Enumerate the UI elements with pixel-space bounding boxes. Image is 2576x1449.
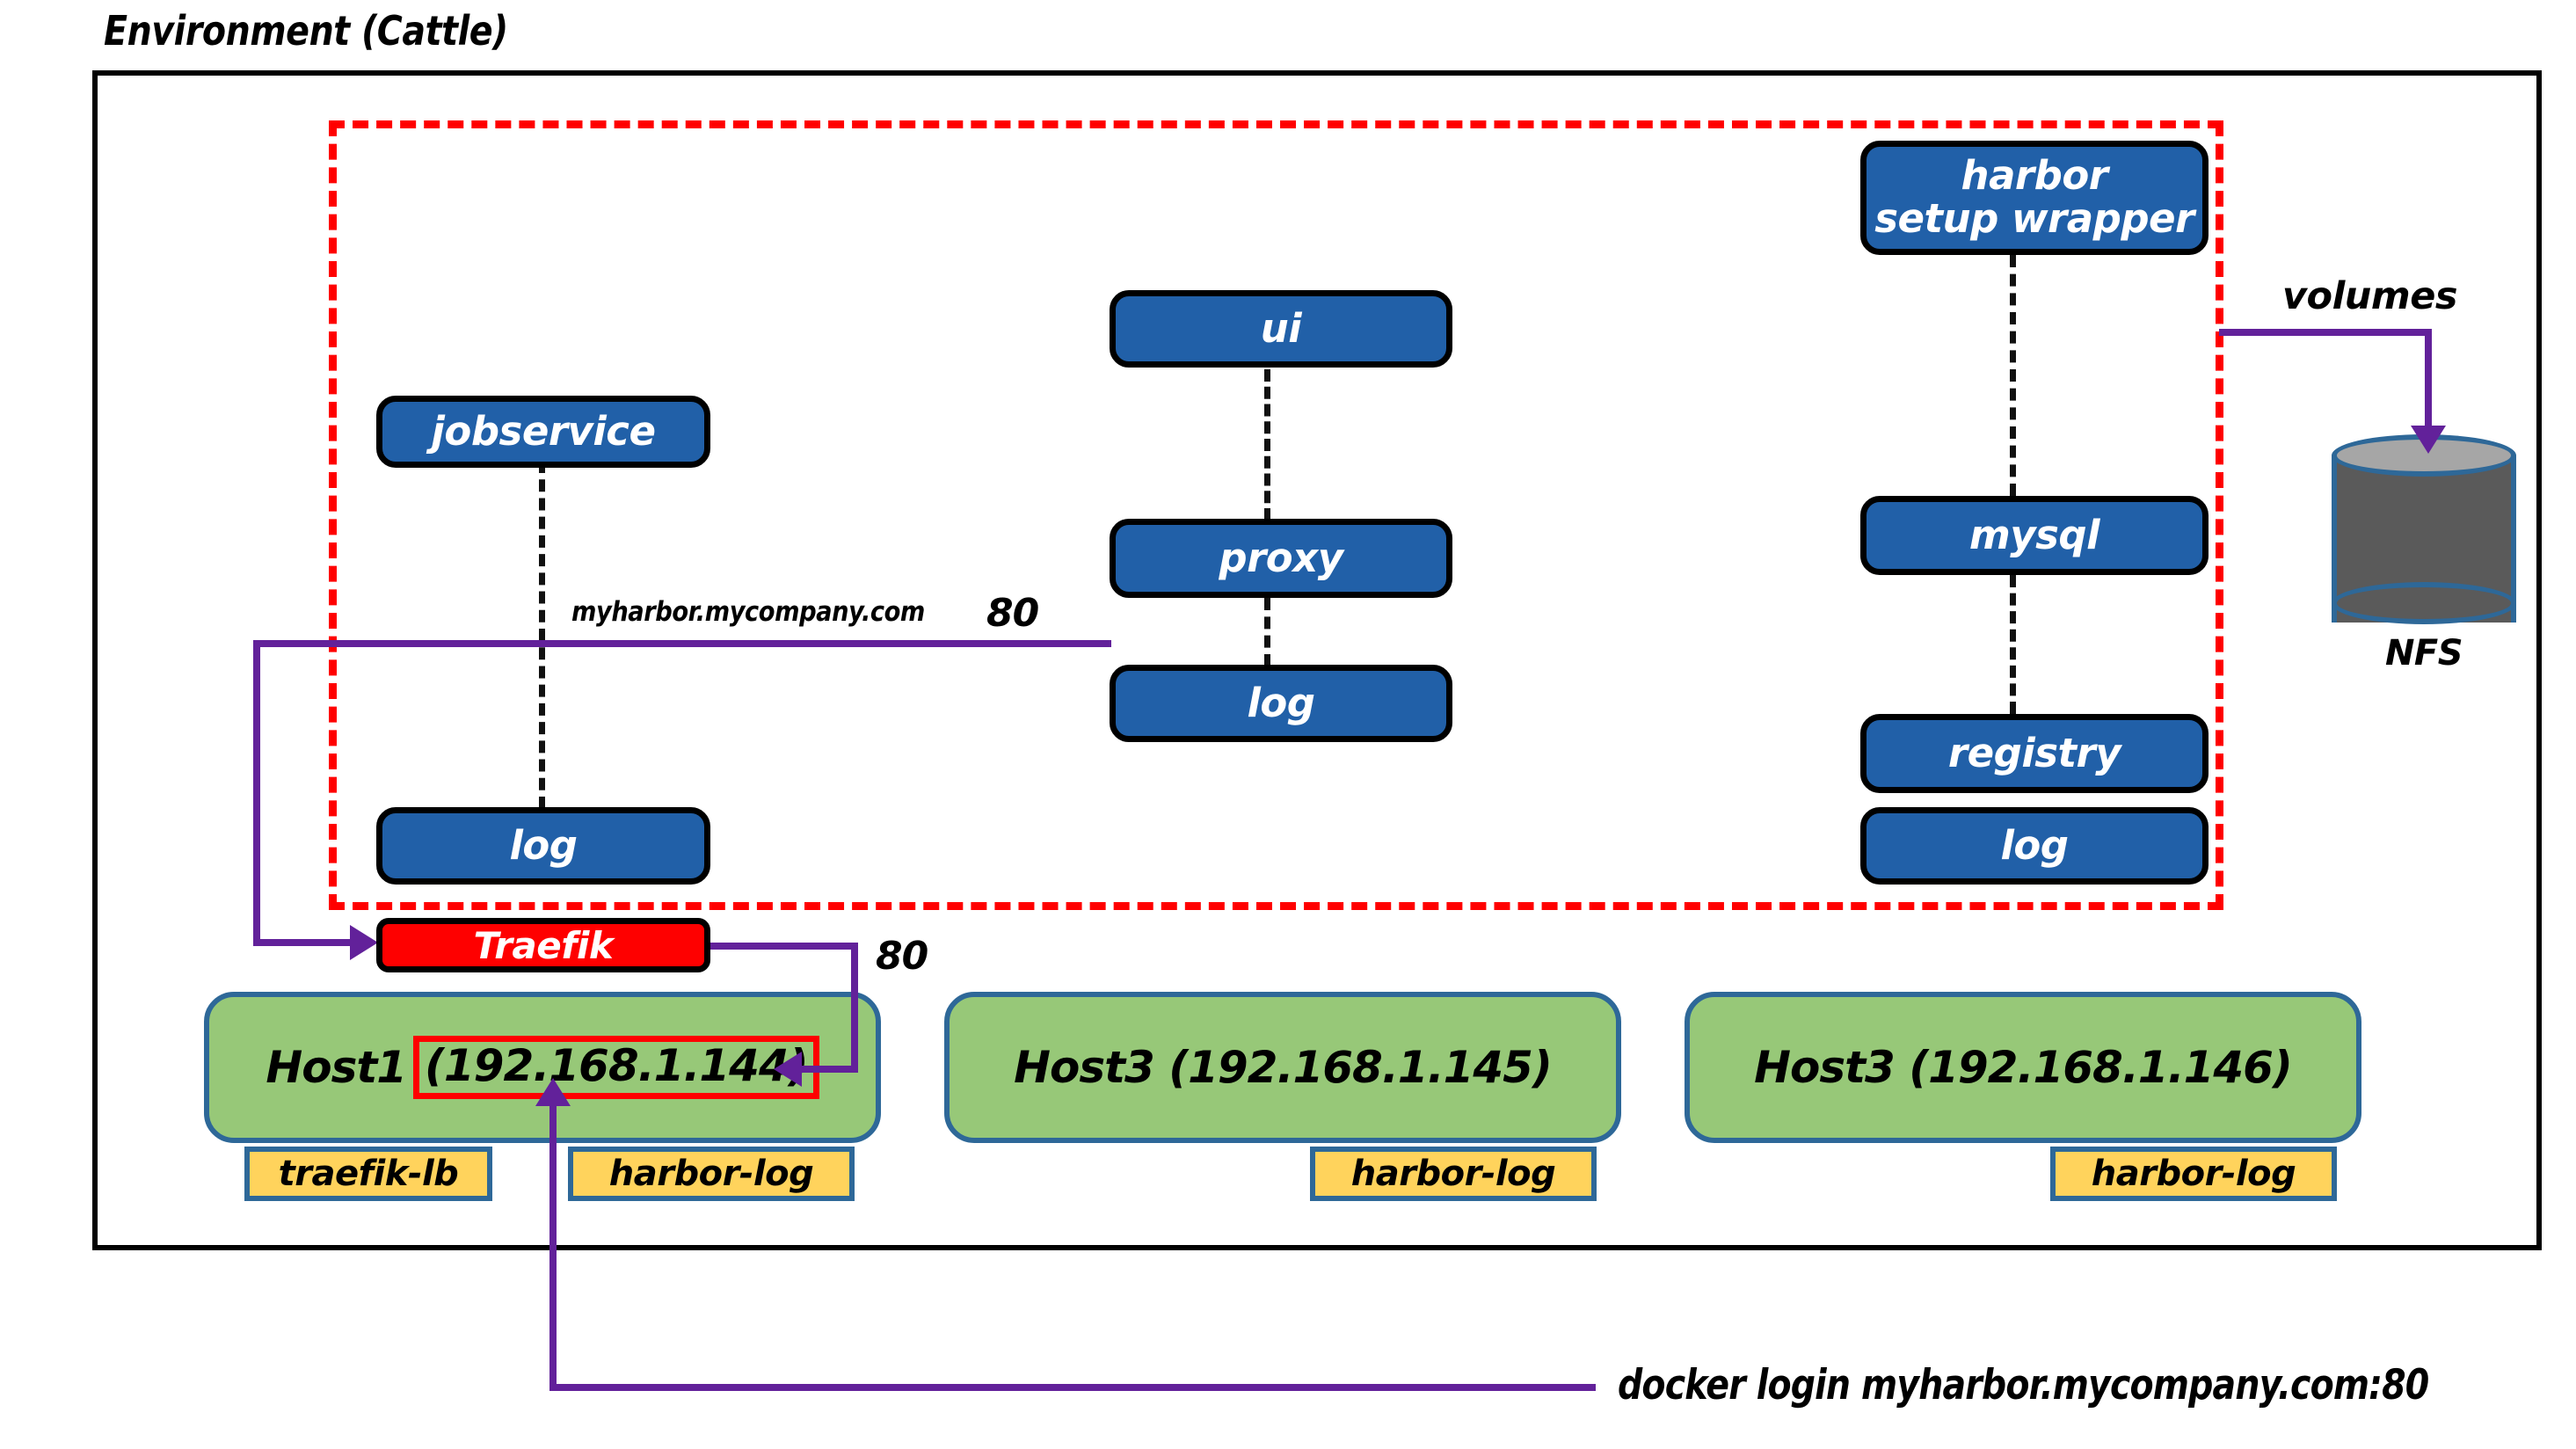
- service-label-ui: ui: [1261, 308, 1301, 351]
- connector-proxy-log: [1264, 598, 1270, 666]
- host-1-chip-traefik-lb-label: traefik-lb: [279, 1154, 459, 1194]
- service-label-log-left: log: [509, 825, 577, 868]
- volumes-route-vertical: [2425, 329, 2432, 431]
- volumes-route-arrowhead: [2411, 426, 2446, 454]
- nfs-cylinder-bottom: [2332, 582, 2516, 624]
- service-box-proxy[interactable]: proxy: [1110, 519, 1452, 598]
- traefik-route-arrowhead: [774, 1052, 802, 1087]
- proxy-route-horizontal-bottom: [253, 939, 357, 946]
- service-label-log-right: log: [2000, 825, 2068, 868]
- docker-login-command: docker login myharbor.mycompany.com:80: [1618, 1361, 2428, 1409]
- traefik-port-annotation: 80: [876, 934, 928, 979]
- connector-ui-proxy: [1264, 369, 1270, 521]
- host-3-chip-harbor-log-label: harbor-log: [2092, 1154, 2296, 1194]
- proxy-route-vertical: [253, 640, 260, 944]
- service-label-proxy: proxy: [1219, 537, 1343, 580]
- connector-jobservice-log: [539, 461, 545, 809]
- diagram-canvas: Environment (Cattle) jobservice log ui p…: [0, 0, 2576, 1449]
- proxy-port-annotation: 80: [986, 591, 1038, 636]
- docker-login-route-horizontal: [549, 1384, 1596, 1391]
- host-1-chip-harbor-log[interactable]: harbor-log: [568, 1147, 855, 1201]
- host-2-label: Host3 (192.168.1.145): [1014, 1042, 1552, 1093]
- service-box-jobservice[interactable]: jobservice: [376, 396, 710, 468]
- host-box-3[interactable]: Host3 (192.168.1.146): [1685, 992, 2361, 1143]
- connector-mysql-registry: [2010, 575, 2016, 714]
- service-box-log-middle[interactable]: log: [1110, 665, 1452, 742]
- service-label-harbor-wrapper-line1: harbor: [1961, 155, 2108, 198]
- traefik-route-horizontal-top: [709, 943, 858, 950]
- nfs-caption: NFS: [2332, 633, 2516, 674]
- service-box-ui[interactable]: ui: [1110, 290, 1452, 368]
- host-1-name: Host1: [266, 1042, 406, 1093]
- service-box-harbor-setup-wrapper[interactable]: harbor setup wrapper: [1860, 141, 2209, 255]
- host-1-ip-highlight: (192.168.1.144): [413, 1036, 819, 1099]
- proxy-route-horizontal-top: [253, 640, 1111, 647]
- host-2-chip-harbor-log[interactable]: harbor-log: [1310, 1147, 1597, 1201]
- host-1-chip-traefik-lb[interactable]: traefik-lb: [244, 1147, 492, 1201]
- docker-login-route-vertical: [549, 1104, 557, 1387]
- service-box-log-right[interactable]: log: [1860, 807, 2209, 885]
- connector-wrapper-mysql: [2010, 255, 2016, 496]
- environment-title: Environment (Cattle): [104, 7, 508, 55]
- volumes-route-horizontal: [2219, 329, 2432, 336]
- traefik-route-horizontal-bottom: [798, 1066, 858, 1073]
- host-2-chip-harbor-log-label: harbor-log: [1351, 1154, 1555, 1194]
- nfs-cylinder: NFS: [2332, 434, 2516, 681]
- service-label-registry: registry: [1948, 732, 2121, 775]
- docker-login-route-arrowhead: [535, 1078, 571, 1106]
- hostname-annotation: myharbor.mycompany.com: [571, 596, 925, 628]
- proxy-route-arrowhead: [350, 925, 378, 960]
- service-label-harbor-wrapper-line2: setup wrapper: [1874, 198, 2194, 241]
- traefik-label: Traefik: [474, 924, 614, 967]
- service-box-log-left[interactable]: log: [376, 807, 710, 885]
- host-3-label: Host3 (192.168.1.146): [1754, 1042, 2292, 1093]
- service-label-mysql: mysql: [1969, 514, 2099, 557]
- host-1-chip-harbor-log-label: harbor-log: [609, 1154, 813, 1194]
- service-label-jobservice: jobservice: [431, 411, 655, 454]
- service-box-registry[interactable]: registry: [1860, 714, 2209, 793]
- traefik-load-balancer[interactable]: Traefik: [376, 918, 710, 972]
- host-3-chip-harbor-log[interactable]: harbor-log: [2050, 1147, 2337, 1201]
- host-box-2[interactable]: Host3 (192.168.1.145): [944, 992, 1621, 1143]
- service-box-mysql[interactable]: mysql: [1860, 496, 2209, 575]
- volumes-label: volumes: [2282, 274, 2457, 318]
- traefik-route-vertical: [851, 943, 858, 1073]
- service-label-log-middle: log: [1247, 682, 1314, 725]
